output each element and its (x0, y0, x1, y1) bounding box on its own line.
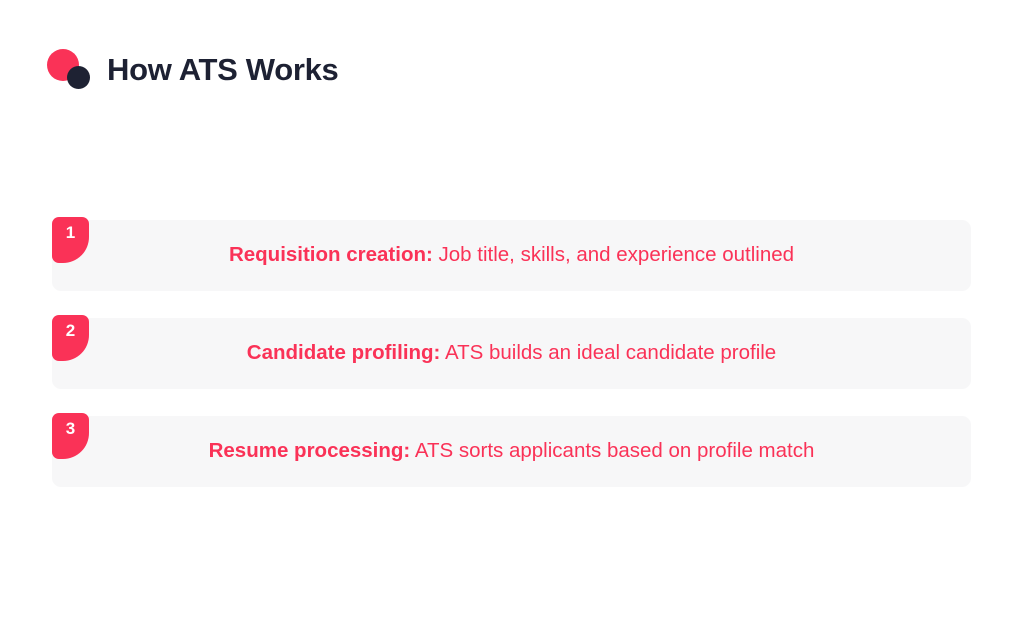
page-title: How ATS Works (107, 54, 339, 85)
step-number-badge: 3 (52, 413, 89, 459)
steps-list: 1 Requisition creation: Job title, skill… (52, 220, 971, 487)
step-description: Job title, skills, and experience outlin… (433, 243, 794, 266)
step-card: 2 Candidate profiling: ATS builds an ide… (52, 318, 971, 389)
step-number-badge: 1 (52, 217, 89, 263)
step-label: Candidate profiling: (247, 341, 441, 364)
logo-secondary-circle-icon (67, 66, 90, 89)
step-label: Requisition creation: (229, 243, 433, 266)
step-number-label: 2 (66, 322, 75, 339)
step-label: Resume processing: (209, 439, 411, 462)
step-number-label: 3 (66, 420, 75, 437)
step-card: 1 Requisition creation: Job title, skill… (52, 220, 971, 291)
step-number-label: 1 (66, 224, 75, 241)
step-description: ATS sorts applicants based on profile ma… (410, 439, 814, 462)
step-description: ATS builds an ideal candidate profile (440, 341, 776, 364)
step-number-badge: 2 (52, 315, 89, 361)
step-text: Resume processing: ATS sorts applicants … (197, 441, 827, 462)
step-card: 3 Resume processing: ATS sorts applicant… (52, 416, 971, 487)
page-header: How ATS Works (47, 44, 339, 92)
logo (47, 46, 93, 90)
step-text: Candidate profiling: ATS builds an ideal… (235, 343, 788, 364)
step-text: Requisition creation: Job title, skills,… (217, 245, 806, 266)
